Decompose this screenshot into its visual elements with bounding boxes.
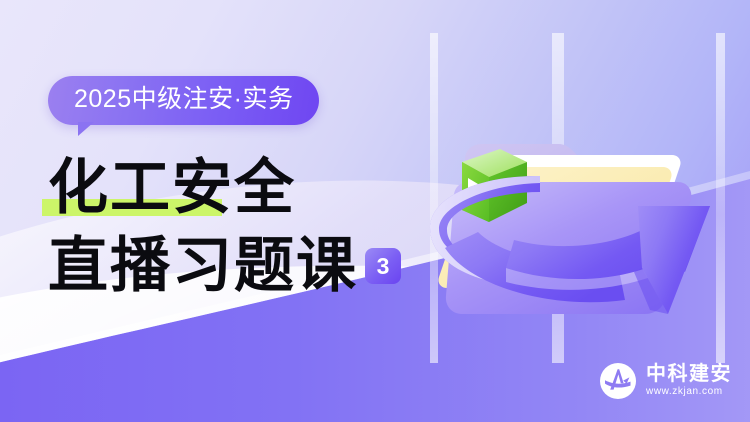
brand-logo-text: 中科建安 www.zkjan.com — [646, 363, 732, 399]
title-line-1-text: 化工安全 — [48, 153, 296, 223]
course-badge-pill: 2025中级注安·实务 — [48, 76, 319, 125]
page-title: 化工安全 直播习题课3 — [48, 158, 478, 296]
brand-name: 中科建安 — [646, 363, 732, 385]
brand-logo: 中科建安 www.zkjan.com — [599, 362, 732, 400]
title-line-2: 直播习题课3 — [48, 236, 478, 296]
title-line-1: 化工安全 — [48, 158, 478, 218]
course-badge: 2025中级注安·实务 — [48, 76, 319, 125]
zkjan-logo-icon — [599, 362, 637, 400]
brand-url: www.zkjan.com — [646, 386, 732, 399]
course-badge-label: 2025中级注安·实务 — [74, 85, 293, 113]
speech-bubble-tail-icon — [78, 122, 94, 136]
episode-badge: 3 — [365, 248, 401, 284]
course-cover-banner: 2025中级注安·实务 化工安全 直播习题课3 中科建安 www.zkjan.c… — [0, 0, 750, 422]
title-line-2-text: 直播习题课 — [48, 231, 358, 301]
